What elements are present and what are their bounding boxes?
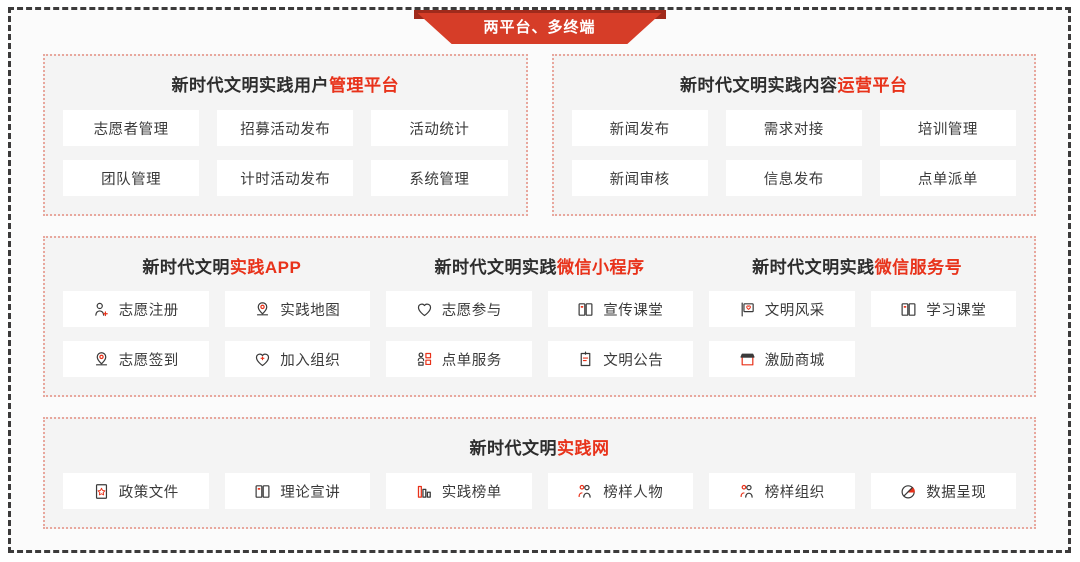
icon-card-item[interactable]: 实践地图 <box>225 291 371 327</box>
title-plain-text: 新时代文明实践 <box>752 258 875 277</box>
title-plain-text: 新时代文明实践内容 <box>680 76 838 95</box>
diagram-content: 新时代文明实践用户管理平台 志愿者管理 招募活动发布 活动统计 团队管理 计时活… <box>43 54 1036 532</box>
card-grid-user-management: 志愿者管理 招募活动发布 活动统计 团队管理 计时活动发布 系统管理 <box>63 110 508 196</box>
title-highlight-text: 实践APP <box>230 258 301 277</box>
two-people-icon <box>577 483 594 500</box>
card-item[interactable]: 培训管理 <box>880 110 1016 146</box>
banner-ribbon: 两平台、多终端 <box>11 10 1068 44</box>
icon-card-item[interactable]: 志愿签到 <box>63 341 209 377</box>
icon-card-item[interactable]: 志愿参与 <box>386 291 532 327</box>
panel-title-content-operation: 新时代文明实践内容运营平台 <box>572 77 1017 94</box>
title-highlight-text: 实践网 <box>557 439 610 458</box>
pie-chart-icon <box>900 483 917 500</box>
user-plus-icon <box>93 301 110 318</box>
icon-card-label: 点单服务 <box>442 349 502 370</box>
card-item[interactable]: 活动统计 <box>371 110 507 146</box>
panel-title-practice-web: 新时代文明实践网 <box>63 440 1016 457</box>
title-plain-text: 新时代文明 <box>142 258 230 277</box>
card-item[interactable]: 需求对接 <box>726 110 862 146</box>
icon-card-item[interactable]: 学习课堂 <box>871 291 1017 327</box>
icon-card-item[interactable]: 政策文件 <box>63 473 209 509</box>
card-item[interactable]: 新闻审核 <box>572 160 708 196</box>
icon-card-item[interactable]: 榜样组织 <box>709 473 855 509</box>
card-item[interactable]: 点单派单 <box>880 160 1016 196</box>
icon-grid-practice-web: 政策文件 理论宣讲 <box>63 473 1016 509</box>
panel-practice-web: 新时代文明实践网 政策文件 <box>43 417 1036 529</box>
diagram-frame: 两平台、多终端 新时代文明实践用户管理平台 志愿者管理 招募活动发布 活动统计 … <box>8 7 1071 553</box>
title-highlight-text: 微信服务号 <box>875 258 963 277</box>
notice-board-icon <box>577 351 594 368</box>
icon-card-item[interactable]: 文明风采 <box>709 291 855 327</box>
title-highlight-text: 微信小程序 <box>557 258 645 277</box>
panel-mobile-terminals: 新时代文明实践APP 新时代文明实践微信小程序 新时代文明实践微信服务号 <box>43 236 1036 397</box>
title-plain-text: 新时代文明 <box>470 439 558 458</box>
icon-card-label: 实践地图 <box>280 299 340 320</box>
icon-card-item[interactable]: 志愿注册 <box>63 291 209 327</box>
icon-card-item[interactable]: 榜样人物 <box>548 473 694 509</box>
panel-title-user-management: 新时代文明实践用户管理平台 <box>63 77 508 94</box>
icon-grid-mobile-terminals: 志愿注册 实践地图 <box>63 291 1016 377</box>
icon-card-item[interactable]: 数据呈现 <box>871 473 1017 509</box>
icon-card-item[interactable]: 实践榜单 <box>386 473 532 509</box>
card-item[interactable]: 新闻发布 <box>572 110 708 146</box>
bar-chart-icon <box>416 483 433 500</box>
policy-doc-icon <box>93 483 110 500</box>
card-item[interactable]: 计时活动发布 <box>217 160 353 196</box>
ribbon-top-bar <box>414 10 666 19</box>
icon-card-label: 志愿参与 <box>442 299 502 320</box>
icon-card-item[interactable]: 点单服务 <box>386 341 532 377</box>
map-pin-icon <box>93 351 110 368</box>
card-item[interactable]: 招募活动发布 <box>217 110 353 146</box>
icon-card-label: 文明公告 <box>603 349 663 370</box>
icon-card-label: 学习课堂 <box>926 299 986 320</box>
icon-card-label: 榜样人物 <box>603 481 663 502</box>
title-plain-text: 新时代文明实践 <box>435 258 558 277</box>
card-grid-content-operation: 新闻发布 需求对接 培训管理 新闻审核 信息发布 点单派单 <box>572 110 1017 196</box>
heart-icon <box>416 301 433 318</box>
card-item[interactable]: 团队管理 <box>63 160 199 196</box>
open-book-icon <box>900 301 917 318</box>
panel-title-miniprogram: 新时代文明实践微信小程序 <box>381 259 699 276</box>
panel-title-app: 新时代文明实践APP <box>63 259 381 276</box>
icon-card-placeholder <box>871 341 1017 377</box>
icon-card-label: 实践榜单 <box>442 481 502 502</box>
open-book-icon <box>577 301 594 318</box>
panel-user-management-platform: 新时代文明实践用户管理平台 志愿者管理 招募活动发布 活动统计 团队管理 计时活… <box>43 54 528 216</box>
icon-card-label: 志愿签到 <box>119 349 179 370</box>
icon-card-item[interactable]: 加入组织 <box>225 341 371 377</box>
panel-content-operation-platform: 新时代文明实践内容运营平台 新闻发布 需求对接 培训管理 新闻审核 信息发布 点… <box>552 54 1037 216</box>
icon-card-label: 政策文件 <box>119 481 179 502</box>
icon-card-item[interactable]: 文明公告 <box>548 341 694 377</box>
shop-icon <box>739 351 756 368</box>
banner-label: 两平台、多终端 <box>483 20 595 38</box>
icon-card-item[interactable]: 宣传课堂 <box>548 291 694 327</box>
row-platforms: 新时代文明实践用户管理平台 志愿者管理 招募活动发布 活动统计 团队管理 计时活… <box>43 54 1036 216</box>
icon-card-item[interactable]: 激励商城 <box>709 341 855 377</box>
map-pin-icon <box>254 301 271 318</box>
icon-card-label: 激励商城 <box>765 349 825 370</box>
icon-card-label: 数据呈现 <box>926 481 986 502</box>
card-item[interactable]: 志愿者管理 <box>63 110 199 146</box>
heart-plus-icon <box>254 351 271 368</box>
icon-card-item[interactable]: 理论宣讲 <box>225 473 371 509</box>
title-highlight-text: 管理平台 <box>329 76 399 95</box>
ribbon-body: 两平台、多终端 <box>418 13 662 44</box>
org-chart-icon <box>416 351 433 368</box>
title-plain-text: 新时代文明实践用户 <box>172 76 330 95</box>
icon-card-label: 加入组织 <box>280 349 340 370</box>
icon-card-label: 榜样组织 <box>765 481 825 502</box>
panel-title-service-account: 新时代文明实践微信服务号 <box>698 259 1016 276</box>
title-highlight-text: 运营平台 <box>838 76 908 95</box>
card-item[interactable]: 系统管理 <box>371 160 507 196</box>
flag-heart-icon <box>739 301 756 318</box>
open-book-icon <box>254 483 271 500</box>
icon-card-label: 宣传课堂 <box>603 299 663 320</box>
icon-card-label: 理论宣讲 <box>280 481 340 502</box>
title-strip-mobile-terminals: 新时代文明实践APP 新时代文明实践微信小程序 新时代文明实践微信服务号 <box>63 259 1016 276</box>
icon-card-label: 文明风采 <box>765 299 825 320</box>
card-item[interactable]: 信息发布 <box>726 160 862 196</box>
icon-card-label: 志愿注册 <box>119 299 179 320</box>
two-people-icon <box>739 483 756 500</box>
